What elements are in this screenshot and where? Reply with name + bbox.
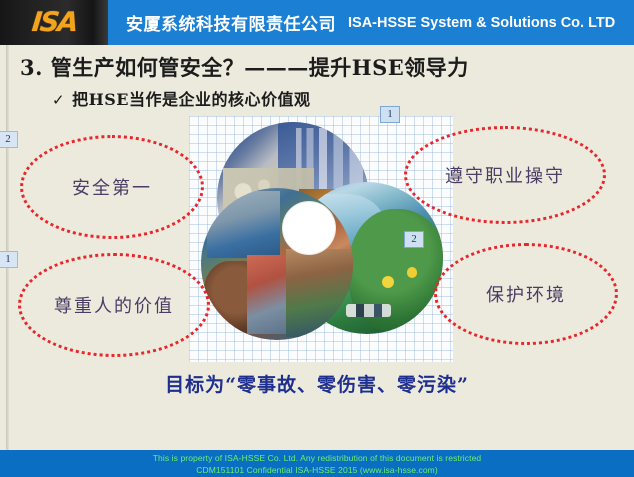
footer-line-1: This is property of ISA-HSSE Co. Ltd. An… <box>0 452 634 464</box>
isa-logo-icon: ISA <box>30 7 78 38</box>
picture-marker-1[interactable]: 1 <box>380 106 400 123</box>
people-child-play <box>286 249 353 337</box>
left-marker-2[interactable]: 2 <box>0 131 18 148</box>
page-subtitle: ✓把HSE当作是企业的核心价值观 <box>52 86 310 110</box>
goal-statement: 目标为“零事故、零伤害、零污染” <box>0 370 634 397</box>
callout-label: 保护环境 <box>486 281 566 307</box>
left-marker-1[interactable]: 1 <box>0 251 18 268</box>
slide-canvas: ISA 安厦系统科技有限责任公司 ISA-HSSE System & Solut… <box>0 0 634 477</box>
company-name-en: ISA-HSSE System & Solutions Co. LTD <box>348 15 615 31</box>
callout-label: 遵守职业操守 <box>445 162 565 188</box>
callout-label: 尊重人的价值 <box>54 292 174 318</box>
callout-professional-ethics: 遵守职业操守 <box>404 126 606 224</box>
circle-people <box>201 188 353 340</box>
callout-safety-first: 安全第一 <box>20 135 204 239</box>
footer-line-2: CDM151101 Confidential ISA-HSSE 2015 (ww… <box>0 464 634 476</box>
page-title: 3. 管生产如何管安全？———提升HSE领导力 <box>20 52 469 82</box>
check-icon: ✓ <box>52 91 65 109</box>
slide-footer: This is property of ISA-HSSE Co. Ltd. An… <box>0 450 634 477</box>
venn-center-hole <box>283 202 335 254</box>
picture-marker-2[interactable]: 2 <box>404 231 424 248</box>
slide-header: ISA 安厦系统科技有限责任公司 ISA-HSSE System & Solut… <box>0 0 634 45</box>
callout-label: 安全第一 <box>72 174 152 200</box>
callout-protect-environment: 保护环境 <box>434 243 618 345</box>
people-children <box>207 191 280 258</box>
logo-area: ISA <box>0 0 108 45</box>
header-title-bar: 安厦系统科技有限责任公司 ISA-HSSE System & Solutions… <box>108 0 634 45</box>
page-subtitle-text: 把HSE当作是企业的核心价值观 <box>72 90 310 109</box>
company-name-cn: 安厦系统科技有限责任公司 <box>126 10 336 35</box>
environment-flower-icon <box>407 267 418 278</box>
callout-respect-people: 尊重人的价值 <box>18 253 210 357</box>
